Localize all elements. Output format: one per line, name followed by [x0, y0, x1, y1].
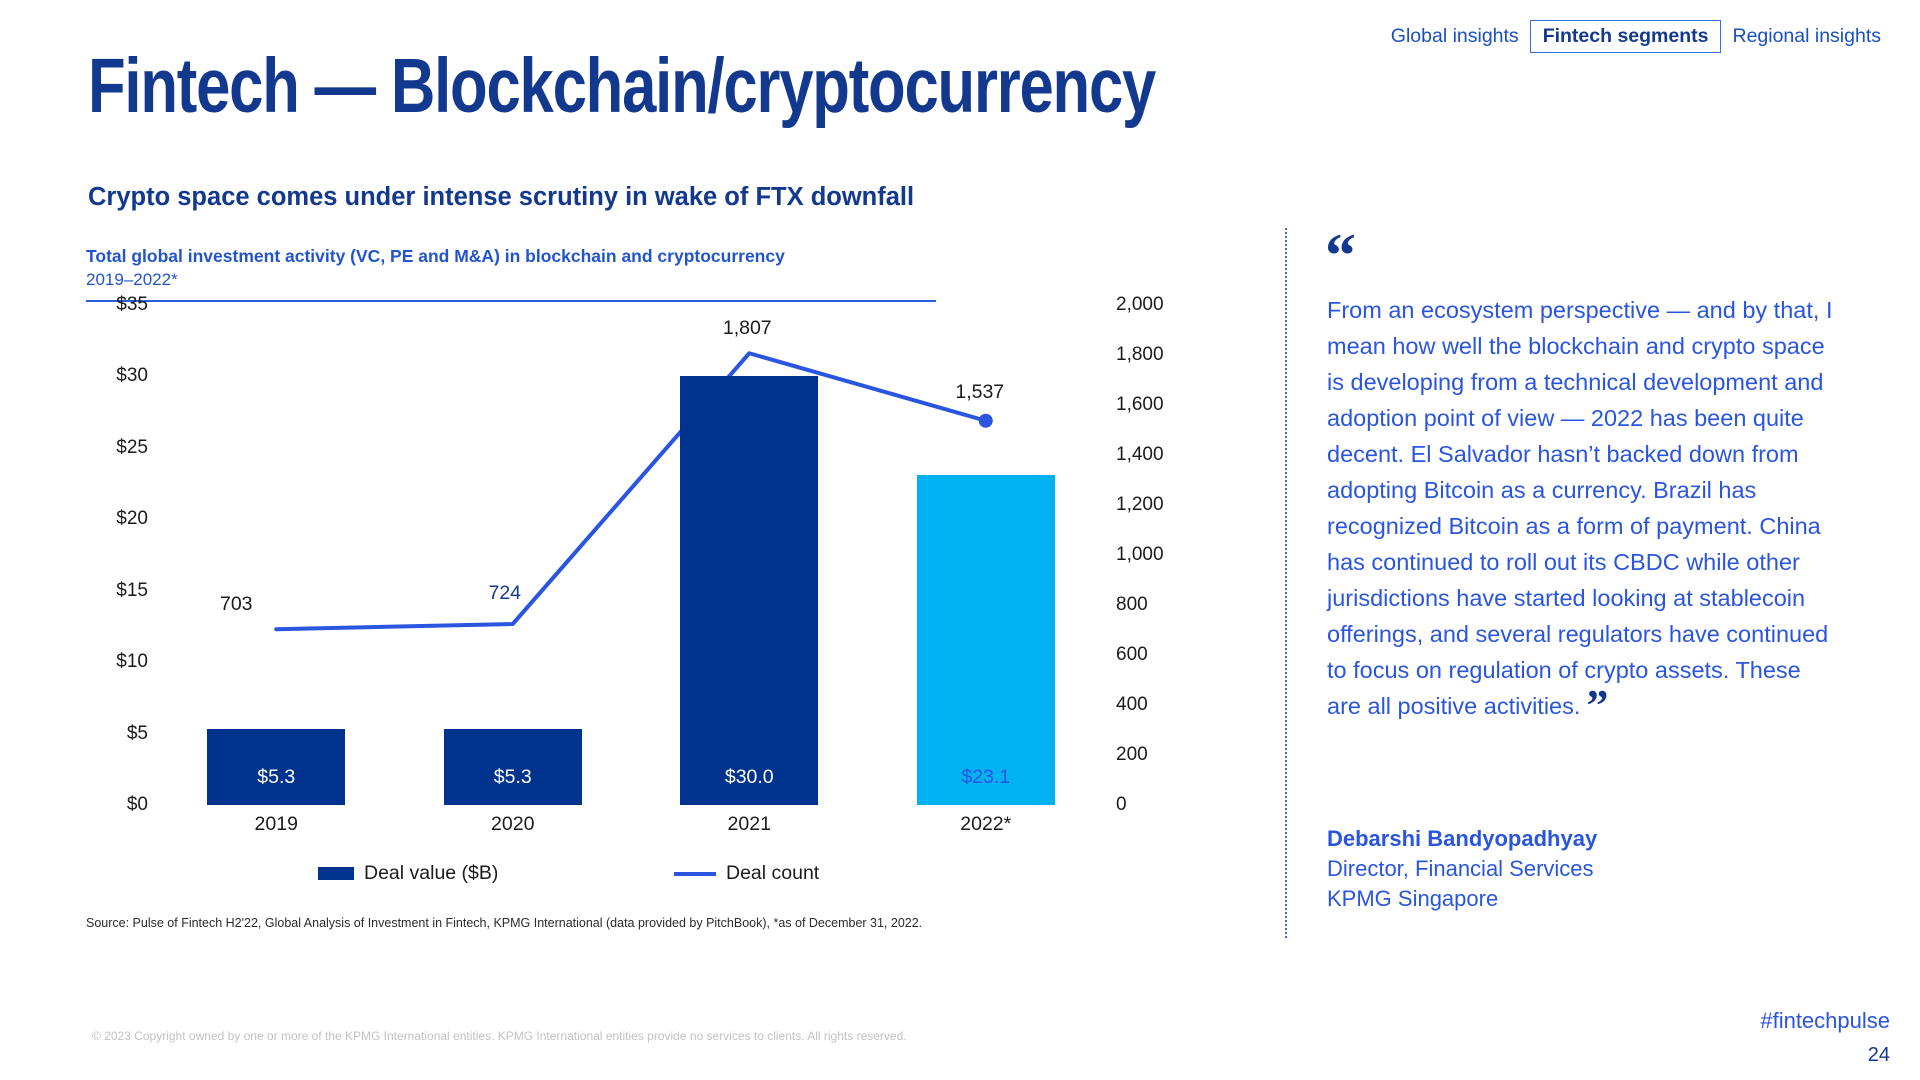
chart-header-rule [86, 300, 936, 302]
line-value-label: 1,807 [723, 319, 772, 339]
legend-line-label: Deal count [726, 862, 819, 885]
top-navigation: Global insights Fintech segments Regiona… [1380, 20, 1892, 53]
x-axis-label-2019: 2019 [158, 813, 395, 836]
bar-2020: $5.3 [444, 729, 582, 805]
y-axis-right-tick: 1,800 [1116, 344, 1164, 366]
bar-2021: $30.0 [680, 376, 818, 805]
y-axis-left-tick: $5 [127, 723, 148, 745]
line-value-label: 703 [220, 595, 253, 615]
page-title: Fintech — Blockchain/cryptocurrency [88, 48, 1155, 125]
bar-value-label: $23.1 [917, 768, 1055, 788]
bar-2019: $5.3 [207, 729, 345, 805]
page-number: 24 [1868, 1044, 1890, 1067]
legend-line-swatch-icon [674, 872, 716, 876]
nav-tab-fintech-segments[interactable]: Fintech segments [1530, 20, 1722, 53]
plot-area: $5.32019$5.32020$30.02021$23.12022*70372… [158, 305, 1104, 805]
bar-value-label: $30.0 [680, 768, 818, 788]
bar-value-label: $5.3 [207, 768, 345, 788]
y-axis-right-tick: 1,600 [1116, 394, 1164, 416]
quote-attribution: Debarshi Bandyopadhyay Director, Financi… [1327, 824, 1797, 914]
y-axis-left: $0$5$10$15$20$25$30$35 [86, 305, 148, 805]
copyright-notice: © 2023 Copyright owned by one or more of… [92, 1029, 907, 1043]
page-subtitle: Crypto space comes under intense scrutin… [88, 183, 914, 212]
quote-body: From an ecosystem perspective — and by t… [1327, 297, 1832, 719]
y-axis-right-tick: 800 [1116, 594, 1148, 616]
y-axis-left-tick: $25 [116, 437, 148, 459]
x-axis-label-2022*: 2022* [868, 813, 1105, 836]
legend-item-deal-value: Deal value ($B) [318, 862, 498, 885]
y-axis-left-tick: $10 [116, 651, 148, 673]
y-axis-right-tick: 600 [1116, 644, 1148, 666]
y-axis-right-tick: 400 [1116, 694, 1148, 716]
y-axis-left-tick: $0 [127, 794, 148, 816]
legend-item-deal-count: Deal count [674, 862, 819, 885]
bar-value-label: $5.3 [444, 768, 582, 788]
chart-legend: Deal value ($B) Deal count [86, 862, 1036, 892]
quote-text: From an ecosystem perspective — and by t… [1327, 292, 1837, 724]
y-axis-right-tick: 1,000 [1116, 544, 1164, 566]
quote-author-name: Debarshi Bandyopadhyay [1327, 824, 1797, 854]
y-axis-left-tick: $15 [116, 580, 148, 602]
line-value-label: 724 [488, 584, 521, 604]
x-axis-label-2020: 2020 [395, 813, 632, 836]
y-axis-right: 02004006008001,0001,2001,4001,6001,8002,… [1116, 305, 1194, 805]
y-axis-left-tick: $30 [116, 365, 148, 387]
y-axis-left-tick: $20 [116, 508, 148, 530]
vertical-divider [1285, 228, 1287, 938]
quote-author-org: KPMG Singapore [1327, 884, 1797, 914]
quote-author-role: Director, Financial Services [1327, 854, 1797, 884]
chart-header: Total global investment activity (VC, PE… [86, 245, 946, 292]
chart-period: 2019–2022* [86, 269, 946, 292]
investment-activity-chart: $0$5$10$15$20$25$30$35 02004006008001,00… [86, 305, 1196, 915]
nav-tab-global-insights[interactable]: Global insights [1380, 21, 1530, 52]
nav-tab-regional-insights[interactable]: Regional insights [1721, 21, 1892, 52]
chart-title: Total global investment activity (VC, PE… [86, 245, 946, 269]
y-axis-right-tick: 2,000 [1116, 294, 1164, 316]
source-note: Source: Pulse of Fintech H2'22, Global A… [86, 916, 922, 930]
line-value-label: 1,537 [955, 383, 1004, 403]
y-axis-right-tick: 1,200 [1116, 494, 1164, 516]
quote-close-mark-icon: ” [1586, 695, 1608, 717]
legend-bar-swatch-icon [318, 867, 354, 880]
x-axis-label-2021: 2021 [631, 813, 868, 836]
y-axis-left-tick: $35 [116, 294, 148, 316]
quote-open-mark-icon: “ [1325, 232, 1356, 282]
y-axis-right-tick: 1,400 [1116, 444, 1164, 466]
bar-2022*: $23.1 [917, 475, 1055, 805]
y-axis-right-tick: 0 [1116, 794, 1127, 816]
legend-bar-label: Deal value ($B) [364, 862, 498, 885]
hashtag-label: #fintechpulse [1760, 1008, 1890, 1034]
y-axis-right-tick: 200 [1116, 744, 1148, 766]
